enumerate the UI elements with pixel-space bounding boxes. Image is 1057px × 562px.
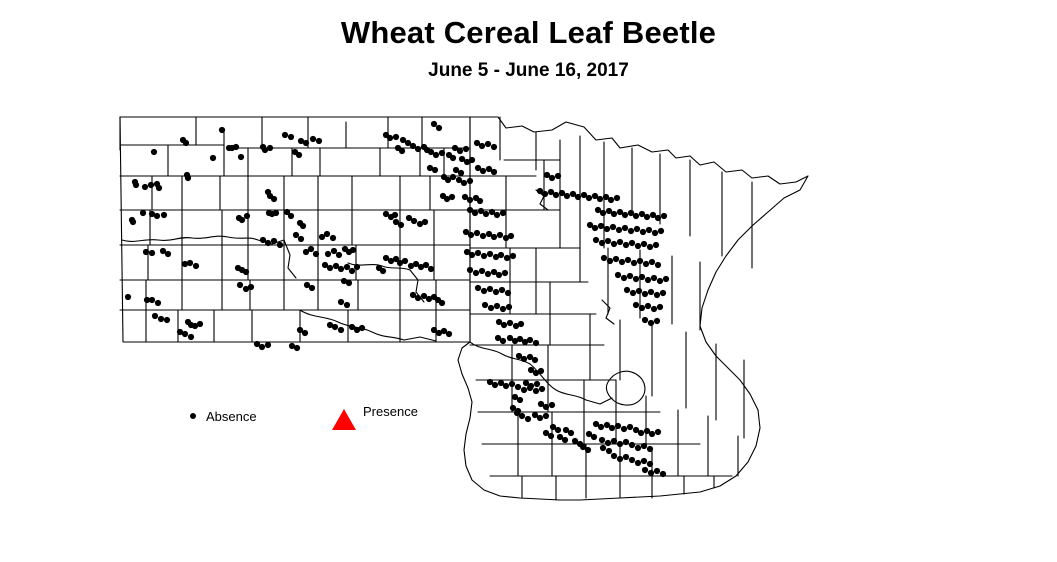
absence-point [354, 264, 360, 270]
absence-point [510, 253, 516, 259]
absence-point [482, 302, 488, 308]
absence-point [521, 356, 527, 362]
absence-point [130, 219, 136, 225]
absence-point [643, 261, 649, 267]
absence-point [155, 300, 161, 306]
absence-point [654, 292, 660, 298]
absence-point [188, 334, 194, 340]
absence-point [642, 291, 648, 297]
absence-point [555, 427, 561, 433]
absence-point [615, 423, 621, 429]
absence-point [238, 154, 244, 160]
absence-point [655, 215, 661, 221]
absence-point [657, 304, 663, 310]
absence-point [504, 255, 510, 261]
absence-point [477, 198, 483, 204]
absence-point [615, 272, 621, 278]
absence-point [647, 244, 653, 250]
absence-point [641, 458, 647, 464]
absence-point [331, 248, 337, 254]
absence-point [165, 251, 171, 257]
absence-point [296, 152, 302, 158]
absence-point [491, 169, 497, 175]
absence-point [450, 174, 456, 180]
absence-point [500, 306, 506, 312]
absence-point [398, 222, 404, 228]
absence-point [450, 155, 456, 161]
absence-point [614, 195, 620, 201]
absence-point [488, 305, 494, 311]
absence-point [282, 132, 288, 138]
legend-label-absence: Absence [206, 410, 257, 423]
absence-point [542, 191, 548, 197]
absence-point [647, 461, 653, 467]
absence-point [625, 257, 631, 263]
absence-point [316, 138, 322, 144]
absence-point [640, 229, 646, 235]
absence-point [494, 212, 500, 218]
absence-point [645, 303, 651, 309]
absence-point [324, 231, 330, 237]
absence-point [653, 242, 659, 248]
map-legend: Absence Presence [190, 402, 450, 432]
absence-point [325, 251, 331, 257]
absence-point [185, 175, 191, 181]
absence-point [461, 180, 467, 186]
absence-point [629, 442, 635, 448]
absence-point [549, 402, 555, 408]
absence-point [562, 437, 568, 443]
absence-point [599, 437, 605, 443]
absence-point [298, 236, 304, 242]
absence-point [349, 268, 355, 274]
absence-point [635, 243, 641, 249]
absence-point [598, 223, 604, 229]
absence-point [629, 240, 635, 246]
triangle-icon [332, 409, 356, 430]
absence-point [611, 453, 617, 459]
absence-point [344, 264, 350, 270]
absence-point [564, 193, 570, 199]
absence-point [500, 210, 506, 216]
absence-point [294, 345, 300, 351]
absence-point [619, 259, 625, 265]
absence-point [585, 447, 591, 453]
absence-point [467, 178, 473, 184]
absence-point [133, 182, 139, 188]
absence-point [500, 338, 506, 344]
absence-point [475, 250, 481, 256]
absence-point [592, 225, 598, 231]
absence-point [639, 305, 645, 311]
absence-point [635, 460, 641, 466]
absence-point [164, 317, 170, 323]
absence-point [623, 242, 629, 248]
absence-point [637, 258, 643, 264]
absence-point [641, 241, 647, 247]
absence-point [142, 184, 148, 190]
absence-point [423, 262, 429, 268]
absence-point [633, 276, 639, 282]
absence-point [265, 342, 271, 348]
legend-item-presence: Presence [332, 402, 418, 430]
absence-point [649, 259, 655, 265]
absence-point [660, 290, 666, 296]
map-container [0, 0, 1057, 562]
absence-point [621, 426, 627, 432]
absence-point [309, 285, 315, 291]
absence-point [642, 467, 648, 473]
absence-point [577, 441, 583, 447]
absence-point [432, 167, 438, 173]
absence-point [503, 383, 509, 389]
absence-point [517, 397, 523, 403]
absence-point [617, 456, 623, 462]
absence-point [248, 284, 254, 290]
absence-point [481, 253, 487, 259]
absence-point [393, 134, 399, 140]
absence-point [479, 143, 485, 149]
absence-point [621, 275, 627, 281]
absence-point [457, 148, 463, 154]
absence-point [657, 278, 663, 284]
absence-point [479, 268, 485, 274]
absence-point [605, 238, 611, 244]
absence-point [415, 146, 421, 152]
absence-point [649, 431, 655, 437]
absence-point [641, 443, 647, 449]
absence-point [259, 344, 265, 350]
absence-point [611, 241, 617, 247]
absence-point [600, 210, 606, 216]
absence-point [655, 429, 661, 435]
absence-point [125, 294, 131, 300]
absence-point [533, 340, 539, 346]
absence-point [515, 408, 521, 414]
absence-point [288, 134, 294, 140]
absence-point [300, 223, 306, 229]
absence-point [622, 212, 628, 218]
absence-point [543, 413, 549, 419]
absence-point [494, 303, 500, 309]
absence-point [439, 150, 445, 156]
absence-point [187, 260, 193, 266]
absence-point [336, 252, 342, 258]
absence-point [293, 232, 299, 238]
absence-point [338, 266, 344, 272]
absence-point [161, 212, 167, 218]
absence-point [487, 251, 493, 257]
absence-point [475, 285, 481, 291]
dot-icon [190, 413, 196, 419]
absence-point [302, 330, 308, 336]
absence-point [308, 246, 314, 252]
absence-point [485, 271, 491, 277]
absence-point [623, 439, 629, 445]
absence-point [624, 287, 630, 293]
absence-point [647, 446, 653, 452]
absence-point [480, 233, 486, 239]
absence-point [607, 258, 613, 264]
absence-point [197, 321, 203, 327]
absence-point [496, 272, 502, 278]
absence-point [501, 322, 507, 328]
absence-point [480, 168, 486, 174]
absence-point [182, 331, 188, 337]
absence-point [499, 287, 505, 293]
absence-point [422, 219, 428, 225]
absence-point [483, 211, 489, 217]
absence-point [627, 424, 633, 430]
absence-point [219, 127, 225, 133]
absence-point [288, 213, 294, 219]
absence-point [143, 249, 149, 255]
absence-point [661, 213, 667, 219]
absence-point [493, 289, 499, 295]
absence-point [635, 445, 641, 451]
absence-point [152, 313, 158, 319]
absence-point [463, 146, 469, 152]
absence-point [605, 440, 611, 446]
distribution-map [0, 0, 1057, 562]
absence-point [498, 252, 504, 258]
absence-point [458, 170, 464, 176]
absence-point [428, 266, 434, 272]
absence-point [613, 256, 619, 262]
absence-point [469, 252, 475, 258]
absence-point [158, 316, 164, 322]
absence-point [648, 470, 654, 476]
absence-point [380, 268, 386, 274]
absence-point [598, 424, 604, 430]
absence-point [154, 213, 160, 219]
absence-point [525, 416, 531, 422]
absence-point [654, 468, 660, 474]
absence-point [568, 430, 574, 436]
absence-point [533, 388, 539, 394]
absence-point [148, 182, 154, 188]
absence-point [338, 299, 344, 305]
absence-point [606, 448, 612, 454]
absence-point [491, 234, 497, 240]
absence-point [346, 280, 352, 286]
absence-point [519, 413, 525, 419]
absence-point [608, 197, 614, 203]
absence-point [663, 276, 669, 282]
absence-point [507, 320, 513, 326]
absence-point [630, 290, 636, 296]
absence-point [327, 265, 333, 271]
absence-point [639, 274, 645, 280]
absence-point [648, 320, 654, 326]
absence-point [313, 251, 319, 257]
absence-point [515, 384, 521, 390]
absence-point [239, 217, 245, 223]
absence-point [617, 239, 623, 245]
absence-point [446, 331, 452, 337]
absence-point [487, 286, 493, 292]
absence-point [277, 242, 283, 248]
absence-point [411, 218, 417, 224]
absence-point [638, 430, 644, 436]
absence-point [555, 173, 561, 179]
absence-point [267, 145, 273, 151]
absence-point [548, 433, 554, 439]
absence-point [532, 357, 538, 363]
absence-point [616, 227, 622, 233]
absence-point [539, 386, 545, 392]
absence-point [243, 269, 249, 275]
absence-point [151, 149, 157, 155]
absence-point [611, 211, 617, 217]
absence-point [597, 196, 603, 202]
absence-point [233, 144, 239, 150]
absence-point [473, 270, 479, 276]
absence-point [467, 197, 473, 203]
absence-point [359, 325, 365, 331]
absence-point [436, 125, 442, 131]
absence-point [600, 445, 606, 451]
absence-point [509, 381, 515, 387]
absence-point [271, 196, 277, 202]
absence-point [623, 454, 629, 460]
absence-point [140, 210, 146, 216]
absence-point [502, 270, 508, 276]
absence-point [310, 136, 316, 142]
absence-point [469, 157, 475, 163]
absence-point [642, 317, 648, 323]
absence-point [399, 148, 405, 154]
absence-point [634, 226, 640, 232]
absence-point [193, 263, 199, 269]
absence-point [183, 140, 189, 146]
absence-point [575, 194, 581, 200]
absence-point [633, 213, 639, 219]
absence-point [601, 255, 607, 261]
legend-item-absence: Absence [190, 402, 257, 430]
absence-point [485, 141, 491, 147]
absence-point [506, 304, 512, 310]
absence-point [237, 282, 243, 288]
absence-point [622, 225, 628, 231]
absence-point [655, 262, 661, 268]
absence-point [527, 337, 533, 343]
absence-point [644, 214, 650, 220]
absence-point [660, 471, 666, 477]
legend-label-presence: Presence [363, 405, 418, 418]
absence-point [629, 457, 635, 463]
absence-point [538, 368, 544, 374]
absence-point [591, 434, 597, 440]
absence-point [338, 327, 344, 333]
absence-point [433, 152, 439, 158]
absence-point [431, 121, 437, 127]
absence-point [332, 324, 338, 330]
absence-point [392, 212, 398, 218]
absence-point [627, 273, 633, 279]
absence-point [553, 192, 559, 198]
absence-point [439, 300, 445, 306]
absence-point [628, 228, 634, 234]
absence-point [645, 277, 651, 283]
absence-point [658, 228, 664, 234]
state-boundaries [120, 117, 808, 500]
absence-point [599, 240, 605, 246]
absence-point [350, 247, 356, 253]
absence-point [505, 290, 511, 296]
absence-point [149, 250, 155, 256]
absence-point [651, 306, 657, 312]
absence-point [415, 295, 421, 301]
absence-point [468, 232, 474, 238]
absence-point [492, 382, 498, 388]
absence-point [491, 144, 497, 150]
absence-point [497, 232, 503, 238]
absence-point [652, 230, 658, 236]
absence-point [474, 230, 480, 236]
absence-point [330, 235, 336, 241]
absence-point [543, 404, 549, 410]
absence-point [156, 185, 162, 191]
absence-point [633, 302, 639, 308]
absence-point [387, 135, 393, 141]
absence-point [344, 302, 350, 308]
absence-point [472, 210, 478, 216]
absence-point [271, 238, 277, 244]
absence-point [273, 210, 279, 216]
absence-point [449, 194, 455, 200]
absence-point [521, 387, 527, 393]
absence-point [617, 441, 623, 447]
absence-point [265, 240, 271, 246]
absence-point [210, 155, 216, 161]
absence-point [527, 385, 533, 391]
absence-point [508, 233, 514, 239]
absence-point [654, 318, 660, 324]
absence-point [610, 224, 616, 230]
absence-point [481, 288, 487, 294]
absence-point [303, 140, 309, 146]
absence-point [537, 415, 543, 421]
absence-point [651, 275, 657, 281]
absence-point [648, 289, 654, 295]
absence-point [611, 438, 617, 444]
absence-point [534, 381, 540, 387]
absence-point [646, 227, 652, 233]
absence-point [604, 226, 610, 232]
absence-point [467, 267, 473, 273]
absence-point [636, 288, 642, 294]
absence-point [518, 321, 524, 327]
absence-point [402, 258, 408, 264]
absence-point [244, 213, 250, 219]
absence-point [586, 195, 592, 201]
absence-point [593, 237, 599, 243]
absence-point [549, 175, 555, 181]
absence-point [609, 425, 615, 431]
absence-point [631, 260, 637, 266]
absence-point [149, 297, 155, 303]
